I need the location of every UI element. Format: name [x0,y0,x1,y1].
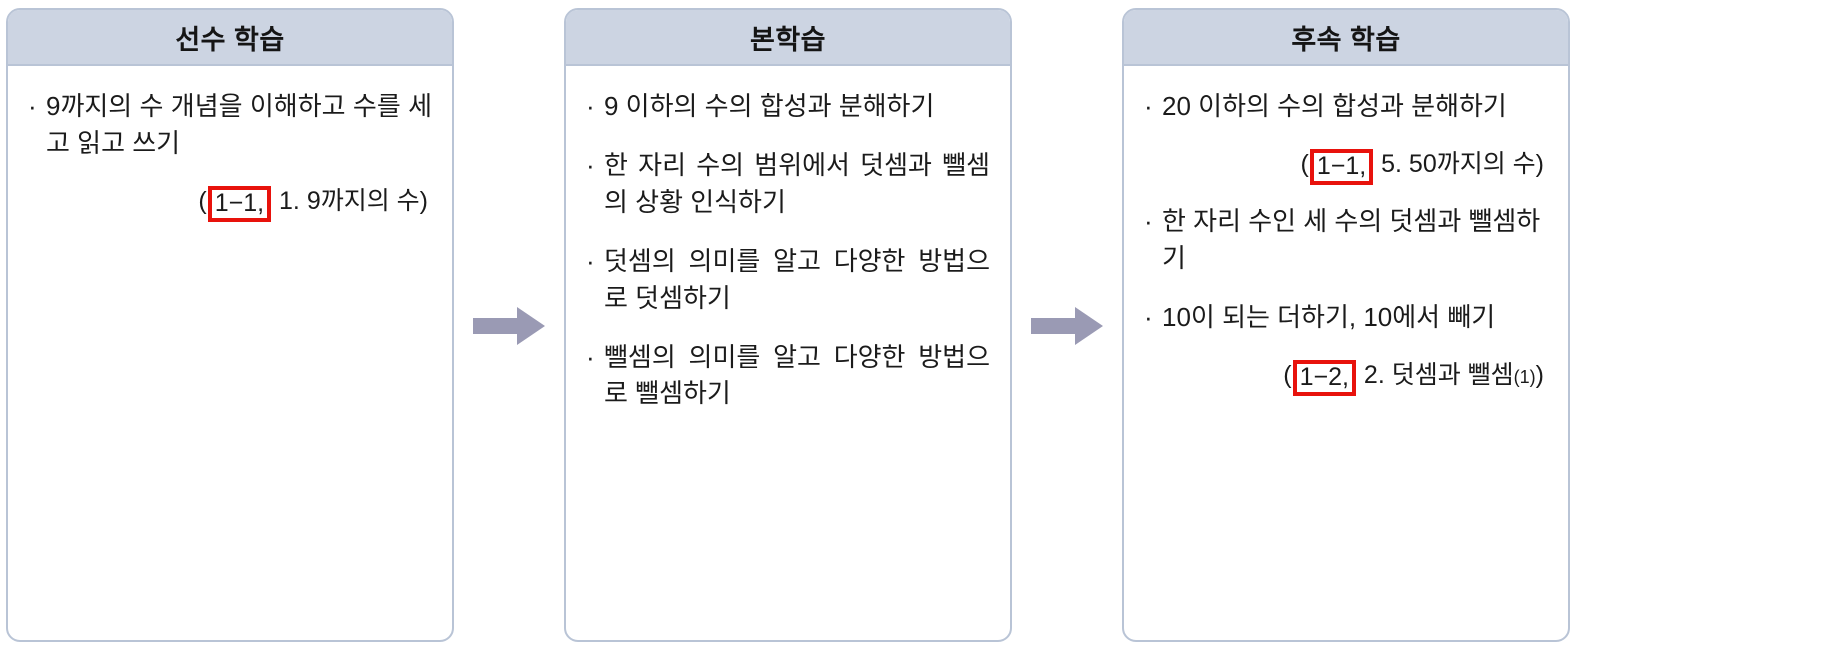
list-item: · 10이 되는 더하기, 10에서 빼기 [1144,299,1548,336]
arrow-connector-1 [454,0,564,652]
list-item: · 덧셈의 의미를 알고 다양한 방법으로 덧셈하기 [586,243,990,317]
list-item-text: 10이 되는 더하기, 10에서 빼기 [1162,299,1548,336]
citation-open: ( [198,187,206,215]
bullet-marker-icon: · [586,339,604,376]
bullet-marker-icon: · [1144,88,1162,125]
panel-body-main-learning: · 9 이하의 수의 합성과 분해하기 · 한 자리 수의 범위에서 덧셈과 뺄… [566,66,1010,640]
right-arrow-icon [1029,305,1105,347]
highlight-box: 1−1, [208,186,271,222]
bullet-marker-icon: · [1144,299,1162,336]
list-item: · 20 이하의 수의 합성과 분해하기 [1144,88,1548,125]
highlight-box: 1−1, [1310,149,1373,185]
panel-title-main-learning: 본학습 [566,10,1010,66]
list-item-text: 뺄셈의 의미를 알고 다양한 방법으로 뺄셈하기 [604,339,990,413]
citation-open: ( [1300,150,1308,178]
list-item-text: 20 이하의 수의 합성과 분해하기 [1162,88,1548,125]
list-item: · 한 자리 수인 세 수의 덧셈과 뺄셈하기 [1144,203,1548,277]
citation-reference: (1−1, 5. 50까지의 수) [1144,147,1548,183]
panel-prior-learning: 선수 학습 · 9까지의 수 개념을 이해하고 수를 세고 읽고 쓰기 (1−1… [6,8,454,642]
citation-reference: (1−2, 2. 덧셈과 뺄셈(1)) [1144,358,1548,394]
list-item-text: 한 자리 수인 세 수의 덧셈과 뺄셈하기 [1162,203,1548,277]
right-arrow-icon [471,305,547,347]
panel-body-followup-learning: · 20 이하의 수의 합성과 분해하기 (1−1, 5. 50까지의 수) ·… [1124,66,1568,640]
bullet-marker-icon: · [1144,203,1162,240]
arrow-connector-2 [1012,0,1122,652]
citation-superscript: (1) [1514,367,1536,387]
citation-open: ( [1283,361,1291,389]
list-item-text: 9 이하의 수의 합성과 분해하기 [604,88,990,125]
panel-main-learning: 본학습 · 9 이하의 수의 합성과 분해하기 · 한 자리 수의 범위에서 덧… [564,8,1012,642]
panel-title-followup-learning: 후속 학습 [1124,10,1568,66]
citation-rest: 5. 50까지의 수) [1374,150,1544,178]
bullet-marker-icon: · [586,243,604,280]
list-item: · 9까지의 수 개념을 이해하고 수를 세고 읽고 쓰기 [28,88,432,162]
panel-body-prior-learning: · 9까지의 수 개념을 이해하고 수를 세고 읽고 쓰기 (1−1, 1. 9… [8,66,452,640]
citation-rest: 2. 덧셈과 뺄셈 [1357,361,1514,389]
bullet-marker-icon: · [586,147,604,184]
learning-flow: 선수 학습 · 9까지의 수 개념을 이해하고 수를 세고 읽고 쓰기 (1−1… [0,0,1841,652]
diagram-canvas: 선수 학습 · 9까지의 수 개념을 이해하고 수를 세고 읽고 쓰기 (1−1… [0,0,1841,652]
list-item-text: 한 자리 수의 범위에서 덧셈과 뺄셈의 상황 인식하기 [604,147,990,221]
highlight-box: 1−2, [1293,360,1356,396]
list-item: · 9 이하의 수의 합성과 분해하기 [586,88,990,125]
list-item-text: 덧셈의 의미를 알고 다양한 방법으로 덧셈하기 [604,243,990,317]
panel-title-prior-learning: 선수 학습 [8,10,452,66]
list-item-text: 9까지의 수 개념을 이해하고 수를 세고 읽고 쓰기 [46,88,432,162]
bullet-marker-icon: · [28,88,46,125]
panel-followup-learning: 후속 학습 · 20 이하의 수의 합성과 분해하기 (1−1, 5. 50까지… [1122,8,1570,642]
citation-reference: (1−1, 1. 9까지의 수) [28,184,432,220]
list-item: · 한 자리 수의 범위에서 덧셈과 뺄셈의 상황 인식하기 [586,147,990,221]
citation-rest: 1. 9까지의 수) [272,187,428,215]
list-item: · 뺄셈의 의미를 알고 다양한 방법으로 뺄셈하기 [586,339,990,413]
citation-close: ) [1536,361,1544,389]
bullet-marker-icon: · [586,88,604,125]
